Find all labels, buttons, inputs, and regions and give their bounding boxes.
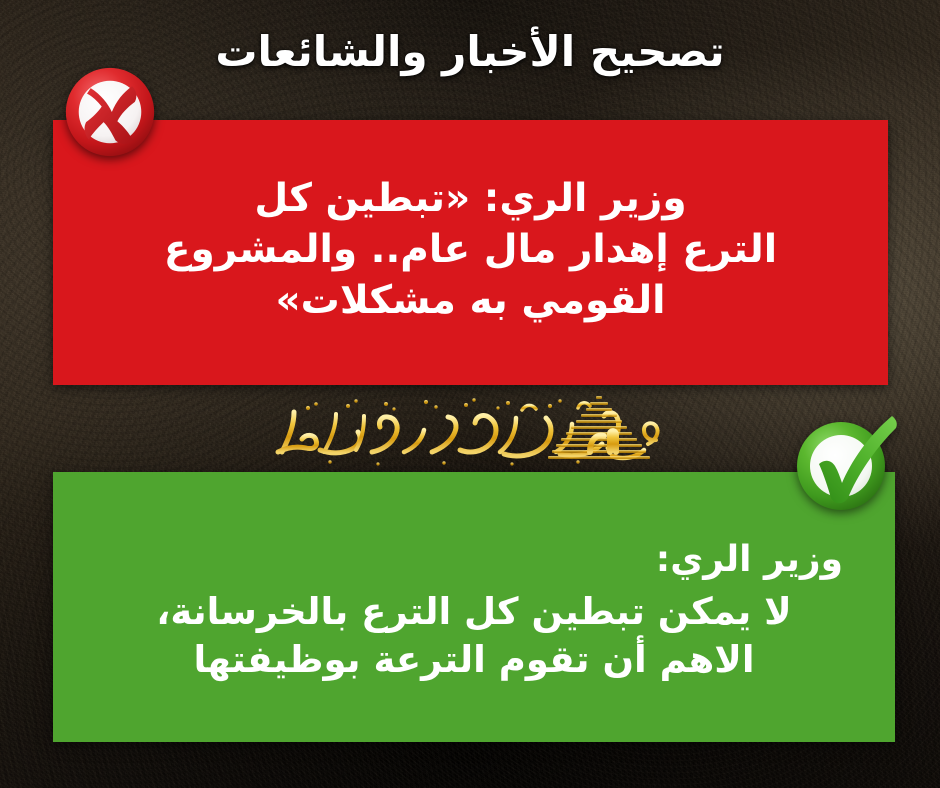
rumor-line-1: وزير الري: «تبطين كل xyxy=(161,174,781,225)
fact-check-poster: تصحيح الأخبار والشائعات وزير الري: «تبطي… xyxy=(0,0,940,788)
fact-card-speaker: وزير الري: xyxy=(99,537,849,582)
brand-logo xyxy=(260,386,680,472)
check-mark-icon xyxy=(795,412,899,512)
rumor-line-3: القومي به مشكلات» xyxy=(161,276,781,327)
fact-card: وزير الري: لا يمكن تبطين كل الترع بالخرس… xyxy=(53,472,895,742)
rumor-line-2: الترع إهدار مال عام.. والمشروع xyxy=(161,225,781,276)
fact-line-2: الاهم أن تقوم الترعة بوظيفتها xyxy=(99,636,849,683)
fact-line-1: لا يمكن تبطين كل الترع بالخرسانة، xyxy=(99,588,849,635)
x-mark-icon xyxy=(64,66,156,158)
rumor-card-text: وزير الري: «تبطين كل الترع إهدار مال عام… xyxy=(161,174,781,326)
rumor-card: وزير الري: «تبطين كل الترع إهدار مال عام… xyxy=(53,120,888,385)
